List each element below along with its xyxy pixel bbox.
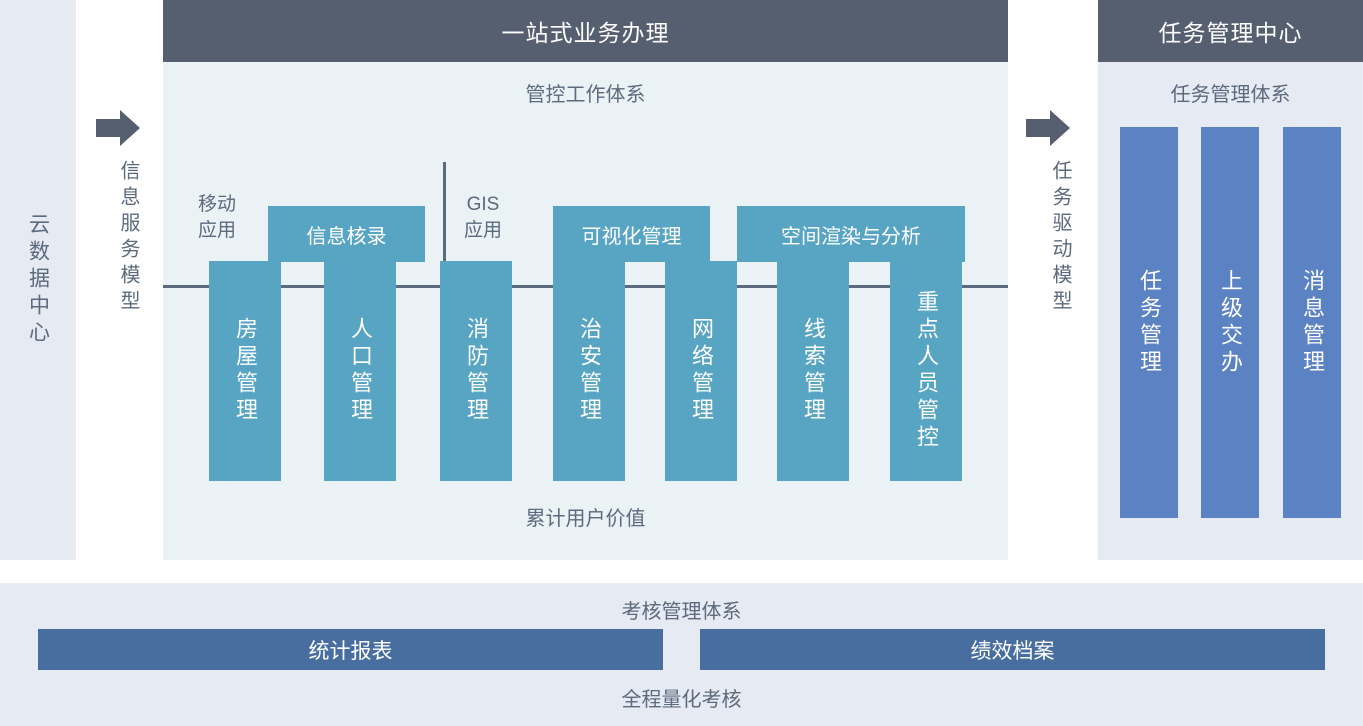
task-card-label: 上级交办 <box>1219 269 1241 377</box>
app-box-spatial-analysis[interactable]: 空间渲染与分析 <box>737 206 965 262</box>
business-card-clues[interactable]: 线索管理 <box>777 261 849 481</box>
center-panel-body: 管控工作体系 移动应用 信息核录 GIS应用 可视化管理 空间渲染与分析 房屋管… <box>163 62 1008 560</box>
business-card-public-security[interactable]: 治安管理 <box>553 261 625 481</box>
business-card-label: 线索管理 <box>802 317 824 425</box>
right-panel-header: 任务管理中心 <box>1098 0 1363 62</box>
business-card-fire-control[interactable]: 消防管理 <box>440 261 512 481</box>
app-box-info-record[interactable]: 信息核录 <box>268 206 425 262</box>
business-card-key-personnel[interactable]: 重点人员管控 <box>890 261 962 481</box>
business-card-label: 人口管理 <box>349 317 371 425</box>
cumulative-user-value-label: 累计用户价值 <box>163 502 1008 531</box>
center-panel-title: 一站式业务办理 <box>502 14 670 48</box>
app-box-visual-management[interactable]: 可视化管理 <box>553 206 710 262</box>
task-card-label: 任务管理 <box>1138 269 1160 377</box>
application-row: 移动应用 信息核录 GIS应用 可视化管理 空间渲染与分析 <box>163 110 1008 238</box>
task-card-label: 消息管理 <box>1301 269 1323 377</box>
control-work-system-label: 管控工作体系 <box>163 78 1008 107</box>
assessment-management-panel: 考核管理体系 统计报表 绩效档案 全程量化考核 <box>0 583 1363 726</box>
assessment-management-system-label: 考核管理体系 <box>0 595 1363 624</box>
task-drive-model-label: 任务驱动模型 <box>1030 160 1070 316</box>
task-card-message-management[interactable]: 消息管理 <box>1283 127 1341 518</box>
cloud-data-center-panel: 云数据中心 <box>0 0 76 560</box>
business-card-row: 房屋管理 人口管理 消防管理 治安管理 网络管理 线索管理 重点人员管控 <box>163 261 1008 481</box>
business-card-population[interactable]: 人口管理 <box>324 261 396 481</box>
business-card-label: 消防管理 <box>465 317 487 425</box>
business-card-label: 网络管理 <box>690 317 712 425</box>
arrow-right-icon <box>96 108 140 148</box>
gis-application-label: GIS应用 <box>453 192 513 243</box>
right-panel-title: 任务管理中心 <box>1159 14 1303 48</box>
business-card-label: 治安管理 <box>578 317 600 425</box>
performance-archive-bar[interactable]: 绩效档案 <box>700 629 1325 670</box>
center-panel-header: 一站式业务办理 <box>163 0 1008 62</box>
business-card-label: 房屋管理 <box>234 317 256 425</box>
one-stop-business-panel: 一站式业务办理 管控工作体系 移动应用 信息核录 GIS应用 可视化管理 空间渲… <box>163 0 1008 560</box>
business-card-housing[interactable]: 房屋管理 <box>209 261 281 481</box>
right-panel-body: 任务管理体系 任务管理 上级交办 消息管理 <box>1098 62 1363 560</box>
info-service-model-label: 信息服务模型 <box>98 160 138 316</box>
task-card-superior-assignment[interactable]: 上级交办 <box>1201 127 1259 518</box>
mobile-application-label: 移动应用 <box>181 192 253 243</box>
task-card-task-management[interactable]: 任务管理 <box>1120 127 1178 518</box>
statistical-report-bar[interactable]: 统计报表 <box>38 629 663 670</box>
business-card-network[interactable]: 网络管理 <box>665 261 737 481</box>
business-card-label: 重点人员管控 <box>915 290 937 452</box>
task-management-center-panel: 任务管理中心 任务管理体系 任务管理 上级交办 消息管理 <box>1098 0 1363 560</box>
full-process-quantitative-assessment-label: 全程量化考核 <box>0 683 1363 712</box>
arrow-right-icon <box>1026 108 1070 148</box>
cloud-data-center-label: 云数据中心 <box>28 213 49 348</box>
task-management-system-label: 任务管理体系 <box>1098 78 1363 107</box>
